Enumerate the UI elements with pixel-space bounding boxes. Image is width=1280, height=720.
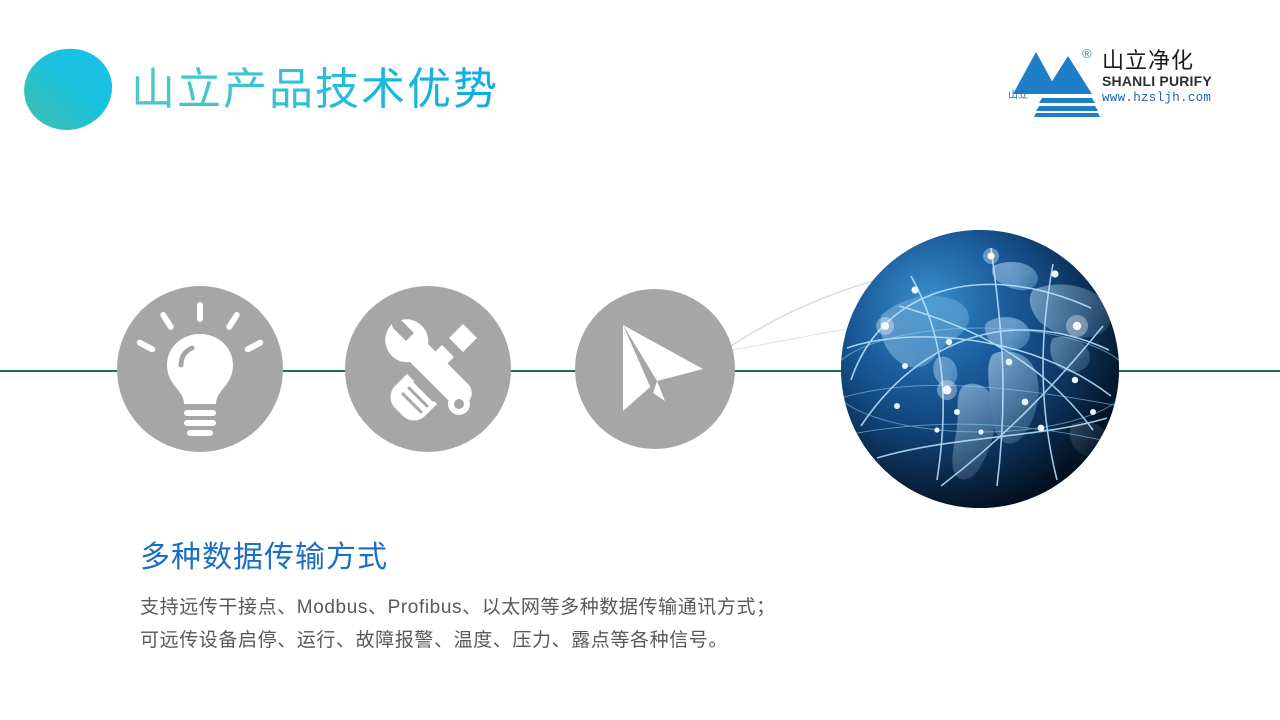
content-heading: 多种数据传输方式	[140, 538, 388, 578]
brand-name-en: SHANLI PURIFY	[1102, 73, 1220, 90]
timeline-node-transmit[interactable]	[575, 289, 735, 449]
decorative-blob-icon	[22, 47, 114, 131]
timeline-node-maintenance[interactable]	[345, 286, 511, 452]
brand-name-cn: 山立净化	[1102, 48, 1220, 73]
brand-website: www.hzsljh.com	[1102, 90, 1220, 106]
content-body: 支持远传干接点、Modbus、Profibus、以太网等多种数据传输通讯方式； …	[140, 591, 900, 657]
shanli-mountain-logo-icon: 山立 ®	[1006, 46, 1102, 118]
lightbulb-icon	[117, 286, 283, 452]
page-title: 山立产品技术优势	[131, 59, 499, 121]
content-body-line: 支持远传干接点、Modbus、Profibus、以太网等多种数据传输通讯方式；	[140, 591, 900, 624]
content-body-line: 可远传设备启停、运行、故障报警、温度、压力、露点等各种信号。	[140, 624, 900, 657]
brand-text-block: 山立净化 SHANLI PURIFY www.hzsljh.com	[1102, 48, 1220, 106]
wrench-screwdriver-icon	[345, 286, 511, 452]
brand-mark-label: 山立	[1008, 90, 1028, 102]
slide-canvas: 山立产品技术优势 山立 ® 山立净化 SHANLI PURIFY www.hzs…	[0, 0, 1280, 720]
paper-plane-send-icon	[575, 289, 735, 449]
registered-mark-icon: ®	[1082, 47, 1092, 60]
brand-logo: 山立 ® 山立净化 SHANLI PURIFY www.hzsljh.com	[1006, 46, 1220, 122]
global-network-globe-image	[841, 230, 1119, 508]
timeline-node-idea[interactable]	[117, 286, 283, 452]
